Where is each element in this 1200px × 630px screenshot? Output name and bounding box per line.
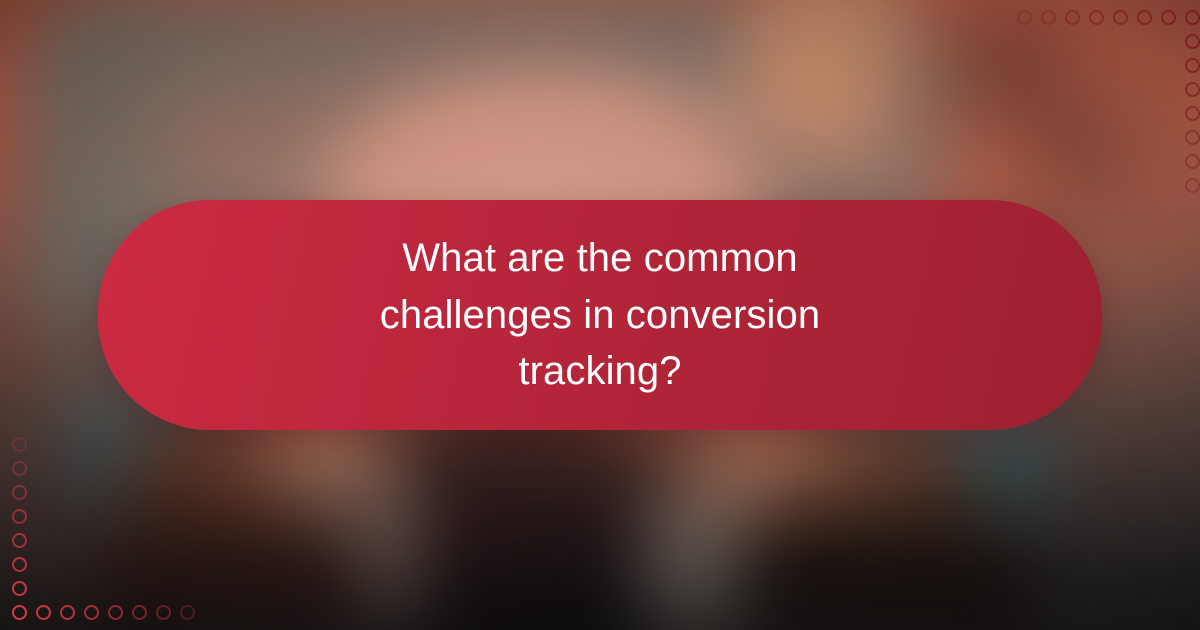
dot-icon bbox=[1041, 10, 1056, 25]
dot-icon bbox=[180, 605, 195, 620]
dot-icon bbox=[36, 605, 51, 620]
dot-icon bbox=[1185, 106, 1200, 121]
dot-icon bbox=[156, 605, 171, 620]
dot-icon bbox=[12, 581, 27, 596]
dot-icon bbox=[1185, 178, 1200, 193]
dot-icon bbox=[1185, 58, 1200, 73]
dot-icon bbox=[1185, 10, 1200, 25]
dot-icon bbox=[1185, 34, 1200, 49]
dot-icon bbox=[1089, 10, 1104, 25]
dot-grid-icon-bottom-left bbox=[0, 447, 183, 630]
dot-icon bbox=[1161, 10, 1176, 25]
dot-icon bbox=[1065, 10, 1080, 25]
dot-icon bbox=[1185, 82, 1200, 97]
dot-icon bbox=[12, 485, 27, 500]
dot-icon bbox=[12, 461, 27, 476]
dot-icon bbox=[12, 437, 27, 452]
dot-grid-icon-top-right bbox=[1017, 0, 1200, 183]
question-text: What are the common challenges in conver… bbox=[280, 230, 920, 400]
question-card: What are the common challenges in conver… bbox=[98, 200, 1102, 430]
dot-icon bbox=[108, 605, 123, 620]
dot-icon bbox=[132, 605, 147, 620]
dot-icon bbox=[12, 509, 27, 524]
dot-icon bbox=[84, 605, 99, 620]
dot-icon bbox=[12, 533, 27, 548]
dot-icon bbox=[1137, 10, 1152, 25]
dot-icon bbox=[1113, 10, 1128, 25]
dot-icon bbox=[1185, 130, 1200, 145]
dot-icon bbox=[12, 605, 27, 620]
dot-icon bbox=[1017, 10, 1032, 25]
dot-icon bbox=[12, 557, 27, 572]
og-image-canvas: What are the common challenges in conver… bbox=[0, 0, 1200, 630]
dot-icon bbox=[1185, 154, 1200, 169]
dot-icon bbox=[60, 605, 75, 620]
